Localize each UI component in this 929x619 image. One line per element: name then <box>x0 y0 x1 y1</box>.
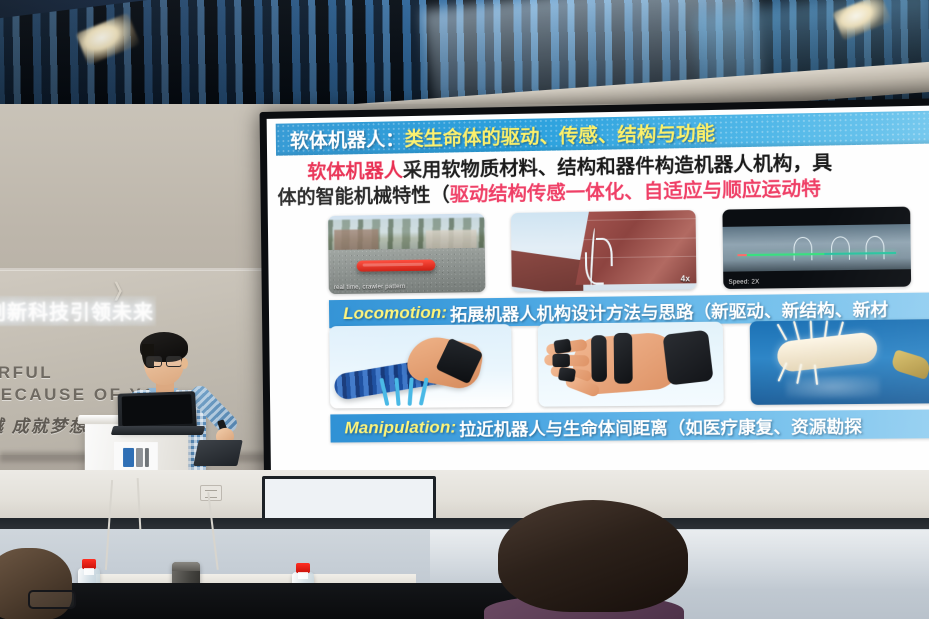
slide: 软体机器人： 类生命体的驱动、传感、结构与功能 软体机器人采用软物质材料、结构和… <box>267 105 929 507</box>
rehab-glove-image <box>538 322 724 407</box>
logo-bar-gray-1 <box>136 447 143 466</box>
thumb-caption: 4x <box>680 274 690 283</box>
wall-text-english-line1: ERFUL <box>0 363 53 383</box>
strap-backbone-2 <box>614 333 633 384</box>
thumb-deep-sea-creature-soft-gripper <box>750 319 929 405</box>
black-sleeve-cuff <box>436 338 484 385</box>
audience-glasses-icon <box>28 590 76 609</box>
audience-hair <box>498 500 688 612</box>
thumb-caption: real time, crawler pattern <box>334 284 406 291</box>
slide-row-locomotion-images: real time, crawler pattern <box>268 206 929 295</box>
bottle-neck <box>84 568 94 575</box>
thumbnail-strip-1: real time, crawler pattern <box>328 205 929 294</box>
thumbnail-strip-2 <box>329 319 929 409</box>
slide-body-line-2-pink: 驱动结构传感一体化、自适应与顺应运动特 <box>450 178 821 206</box>
banner-manipulation: Manipulation: 拉近机器人与生命体间距离（如医疗康复、资源勘探 <box>330 409 929 442</box>
slide-title-white: 软体机器人： <box>290 124 405 153</box>
laptop-screen <box>122 394 193 426</box>
glasses-icon <box>146 356 182 365</box>
power-outlet-icon <box>200 485 222 501</box>
institution-logo <box>114 442 158 472</box>
wall-neon-sign: 创新科技引领未来 <box>0 296 156 326</box>
soft-gripper-fingers <box>382 375 437 406</box>
soft-gripper-claw <box>890 349 929 380</box>
strap <box>552 354 570 367</box>
dark-tank-image <box>722 207 911 289</box>
deep-sea-image <box>750 319 929 405</box>
projection-screen-surface: 软体机器人： 类生命体的驱动、传感、结构与功能 软体机器人采用软物质材料、结构和… <box>267 105 929 507</box>
banner-manipulation-cn: 拉近机器人与生命体间距离（如医疗康复、资源勘探 <box>459 412 862 440</box>
presenter-ear <box>181 358 188 369</box>
audience-head-left <box>0 548 72 619</box>
soft-arm-image <box>329 324 512 408</box>
wall-text-chinese: 越 成就梦想 <box>0 412 88 437</box>
slide-row-manipulation-images <box>269 319 929 409</box>
presentation-photo-scene: ❭ 创新科技引领未来 ERFUL BECAUSE OF YO 越 成就梦想 软体… <box>0 0 929 619</box>
slide-body-highlight: 软体机器人 <box>307 160 403 183</box>
underwater-glow <box>786 375 880 398</box>
thermos-lid <box>172 562 200 571</box>
baseboard-window-panel <box>262 476 436 522</box>
slide-body-text: 软体机器人采用软物质材料、结构和器件构造机器人机构，具 体的智能机械特性（驱动结… <box>277 147 929 211</box>
slide-title-bar: 软体机器人： 类生命体的驱动、传感、结构与功能 <box>276 110 929 156</box>
laptop-keyboard-base <box>111 426 206 435</box>
audience-head-right <box>498 500 688 619</box>
strap-backbone <box>591 335 607 382</box>
logo-bar-blue <box>123 447 134 466</box>
banner-locomotion-en: Locomotion: <box>343 303 447 324</box>
slide-body-line-2-black: 体的智能机械特性（ <box>277 185 449 209</box>
building-facade-image <box>511 210 697 292</box>
thumb-red-soft-crawling-robot-on-road: real time, crawler pattern <box>328 213 486 294</box>
strap <box>553 339 571 354</box>
thumb-soft-rehabilitation-glove <box>538 322 724 407</box>
strap <box>558 367 576 382</box>
road-scene-image <box>328 213 486 294</box>
bottle-neck <box>298 572 308 579</box>
wall-panel-seam <box>0 268 300 271</box>
thumb-underwater-soft-swimmer-dark-tank: Speed: 2X <box>722 207 911 289</box>
sea-creature-body <box>776 331 879 373</box>
foreground-dark-desk <box>0 583 560 619</box>
banner-manipulation-en: Manipulation: <box>344 417 456 438</box>
brick-wall-lower-left <box>511 250 584 292</box>
thumb-caption: Speed: 2X <box>728 279 759 286</box>
wrist-module <box>662 330 713 386</box>
red-soft-robot <box>357 260 436 272</box>
logo-bar-gray-2 <box>145 448 149 467</box>
slide-title-yellow: 类生命体的驱动、传感、结构与功能 <box>404 118 715 151</box>
thumb-blue-soft-robotic-arm-handshake <box>329 324 512 408</box>
monitor-stand <box>193 440 243 466</box>
projection-screen[interactable]: 软体机器人： 类生命体的驱动、传感、结构与功能 软体机器人采用软物质材料、结构和… <box>260 98 929 514</box>
thumb-vine-growing-robot-climbing-building: 4x <box>511 210 697 292</box>
